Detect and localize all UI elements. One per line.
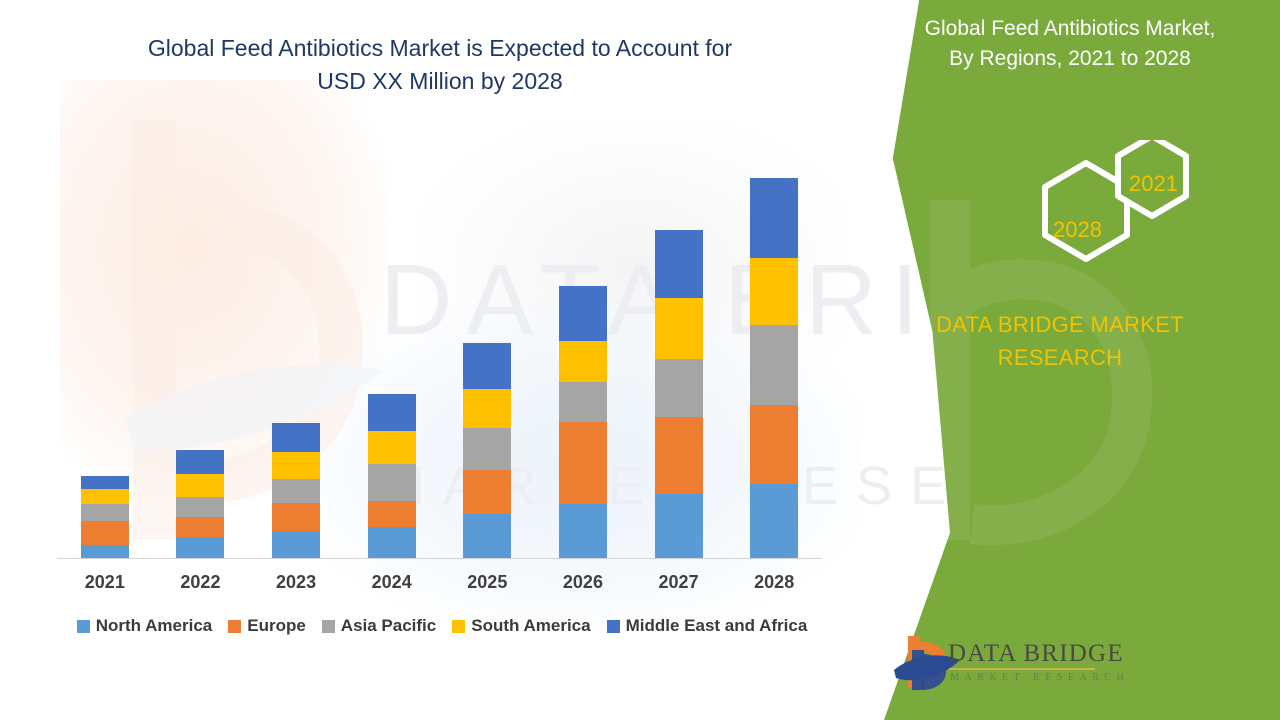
stacked-bar-2024[interactable] — [368, 394, 416, 558]
bar-segment[interactable] — [655, 298, 703, 359]
legend-swatch-icon — [607, 620, 620, 633]
x-axis-label-2021: 2021 — [57, 572, 153, 593]
chart-title-line1: Global Feed Antibiotics Market is Expect… — [148, 35, 732, 61]
bar-segment[interactable] — [750, 178, 798, 259]
bar-segment[interactable] — [750, 405, 798, 484]
bar-segment[interactable] — [176, 474, 224, 496]
legend-swatch-icon — [322, 620, 335, 633]
bar-segment[interactable] — [176, 450, 224, 474]
stacked-bar-2025[interactable] — [463, 343, 511, 558]
legend-item[interactable]: Europe — [228, 616, 306, 636]
bar-slot — [631, 150, 727, 558]
x-axis-label-2023: 2023 — [248, 572, 344, 593]
panel-brand-line1: DATA BRIDGE MARKET — [936, 312, 1184, 337]
x-axis-label-2028: 2028 — [726, 572, 822, 593]
bar-segment[interactable] — [176, 537, 224, 558]
hexagon-2028-shape — [1045, 163, 1127, 259]
bar-segment[interactable] — [750, 484, 798, 558]
bar-segment[interactable] — [368, 501, 416, 528]
bar-segment[interactable] — [463, 343, 511, 389]
bar-group — [57, 150, 822, 558]
hexagon-outlines — [860, 140, 1260, 290]
bar-segment[interactable] — [81, 476, 129, 488]
bar-segment[interactable] — [81, 489, 129, 504]
legend-item[interactable]: Asia Pacific — [322, 616, 436, 636]
legend-item[interactable]: South America — [452, 616, 590, 636]
bar-segment[interactable] — [463, 428, 511, 470]
hexagon-2021-label: 2021 — [1129, 171, 1178, 197]
bar-segment[interactable] — [750, 325, 798, 405]
x-axis-line — [57, 558, 822, 559]
x-axis-label-2026: 2026 — [535, 572, 631, 593]
bar-segment[interactable] — [463, 389, 511, 429]
bar-segment[interactable] — [655, 359, 703, 417]
bar-segment[interactable] — [81, 521, 129, 544]
bar-slot — [535, 150, 631, 558]
chart-title-line2: USD XX Million by 2028 — [317, 68, 562, 94]
bar-segment[interactable] — [272, 423, 320, 452]
stacked-bar-2022[interactable] — [176, 450, 224, 558]
bar-slot — [153, 150, 249, 558]
bar-slot — [726, 150, 822, 558]
legend-swatch-icon — [77, 620, 90, 633]
stacked-bar-2026[interactable] — [559, 286, 607, 558]
panel-title: Global Feed Antibiotics Market, By Regio… — [870, 14, 1270, 75]
bar-segment[interactable] — [559, 341, 607, 382]
bar-slot — [344, 150, 440, 558]
legend-label: Asia Pacific — [341, 616, 436, 636]
panel-title-line2: By Regions, 2021 to 2028 — [949, 47, 1191, 70]
stacked-bar-2023[interactable] — [272, 423, 320, 558]
bar-slot — [440, 150, 536, 558]
legend-swatch-icon — [228, 620, 241, 633]
x-axis-label-2027: 2027 — [631, 572, 727, 593]
x-axis-label-2022: 2022 — [153, 572, 249, 593]
bar-segment[interactable] — [272, 531, 320, 558]
bar-segment[interactable] — [368, 464, 416, 501]
chart-plot-area — [57, 150, 822, 559]
bar-segment[interactable] — [272, 503, 320, 532]
bar-segment[interactable] — [176, 497, 224, 517]
bar-slot — [57, 150, 153, 558]
bar-segment[interactable] — [272, 452, 320, 480]
bar-segment[interactable] — [463, 514, 511, 558]
bar-segment[interactable] — [750, 258, 798, 325]
stacked-bar-2027[interactable] — [655, 230, 703, 558]
bar-segment[interactable] — [368, 527, 416, 558]
bar-segment[interactable] — [655, 494, 703, 558]
legend-label: North America — [96, 616, 213, 636]
legend-label: Europe — [247, 616, 306, 636]
panel-title-line1: Global Feed Antibiotics Market, — [925, 17, 1216, 40]
legend-item[interactable]: North America — [77, 616, 213, 636]
panel-brand-line2: RESEARCH — [998, 345, 1123, 370]
legend-swatch-icon — [452, 620, 465, 633]
hexagon-2028-label: 2028 — [1053, 217, 1102, 243]
bar-segment[interactable] — [463, 470, 511, 514]
bar-segment[interactable] — [368, 394, 416, 431]
stacked-bar-2028[interactable] — [750, 178, 798, 558]
legend-label: Middle East and Africa — [626, 616, 808, 636]
bar-segment[interactable] — [559, 382, 607, 423]
bar-segment[interactable] — [559, 422, 607, 504]
hexagon-badges: 2021 2028 — [860, 140, 1260, 290]
stacked-bar-2021[interactable] — [81, 476, 129, 558]
bar-segment[interactable] — [272, 479, 320, 502]
bar-segment[interactable] — [559, 504, 607, 558]
logo-divider — [949, 668, 1095, 670]
logo-subtitle: MARKET RESEARCH — [950, 672, 1129, 683]
legend-label: South America — [471, 616, 590, 636]
panel-brand-text: DATA BRIDGE MARKET RESEARCH — [860, 308, 1260, 374]
slide-canvas: DATA BRIDGE MARKET RESEARCH Global Feed … — [0, 0, 1280, 720]
chart-title: Global Feed Antibiotics Market is Expect… — [60, 32, 820, 97]
bar-segment[interactable] — [368, 431, 416, 465]
bar-segment[interactable] — [655, 230, 703, 298]
bar-slot — [248, 150, 344, 558]
chart-legend: North AmericaEuropeAsia PacificSouth Ame… — [57, 616, 827, 636]
x-axis-labels: 20212022202320242025202620272028 — [57, 572, 822, 593]
x-axis-label-2025: 2025 — [440, 572, 536, 593]
right-green-panel: Global Feed Antibiotics Market, By Regio… — [840, 0, 1280, 720]
bar-segment[interactable] — [81, 545, 129, 558]
logo-wordmark: DATA BRIDGE — [948, 640, 1124, 668]
legend-item[interactable]: Middle East and Africa — [607, 616, 808, 636]
x-axis-label-2024: 2024 — [344, 572, 440, 593]
bar-segment[interactable] — [559, 286, 607, 341]
bar-segment[interactable] — [176, 517, 224, 536]
bar-segment[interactable] — [81, 504, 129, 521]
bar-segment[interactable] — [655, 417, 703, 494]
